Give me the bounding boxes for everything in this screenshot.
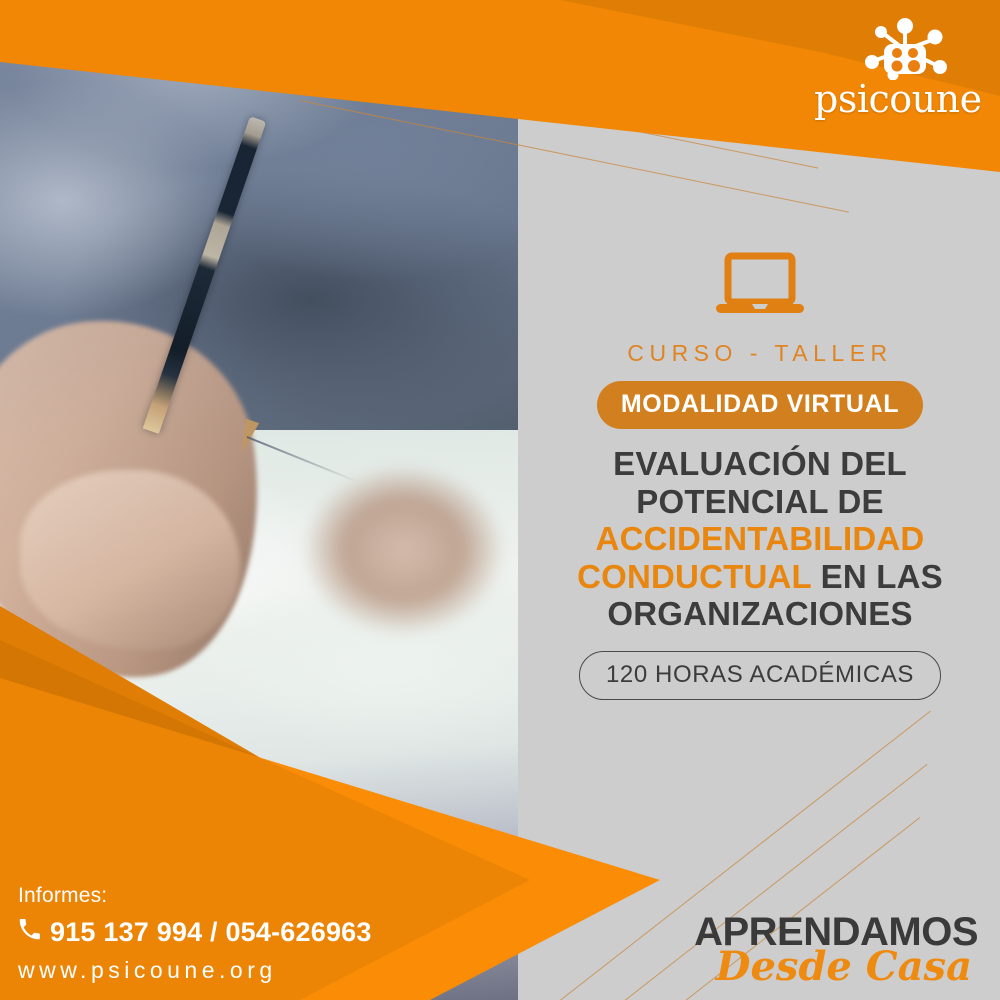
contact-website[interactable]: www.psicoune.org — [18, 957, 488, 984]
title-highlight-accidentabilidad: ACCIDENTABILIDAD — [596, 520, 925, 557]
title-line-5: ORGANIZACIONES — [560, 595, 960, 633]
title-highlight-conductual: CONDUCTUAL — [577, 558, 811, 595]
contact-block: Informes: 915 137 994 / 054-626963 www.p… — [18, 884, 488, 984]
title-line-1: EVALUACIÓN DEL — [560, 445, 960, 483]
phone-icon — [18, 917, 41, 948]
course-kicker: CURSO - TALLER — [560, 340, 960, 367]
course-title: EVALUACIÓN DEL POTENCIAL DE ACCIDENTABIL… — [560, 445, 960, 633]
laptop-icon — [560, 250, 960, 322]
title-line-4-rest: EN LAS — [811, 558, 943, 595]
title-line-2: POTENCIAL DE — [560, 483, 960, 521]
logo-wordmark: psicoune — [814, 80, 974, 118]
molecule-network-icon — [862, 18, 948, 80]
contact-phone-row[interactable]: 915 137 994 / 054-626963 — [18, 917, 488, 948]
course-info-block: CURSO - TALLER MODALIDAD VIRTUAL EVALUAC… — [560, 250, 960, 700]
brand-logo: psicoune — [814, 18, 974, 118]
campaign-slogan: APRENDAMOS Desde Casa — [694, 913, 978, 986]
campaign-line-2: Desde Casa — [694, 948, 972, 986]
contact-label: Informes: — [18, 884, 488, 908]
hours-badge: 120 HORAS ACADÉMICAS — [579, 651, 941, 700]
title-line-4: CONDUCTUAL EN LAS — [560, 558, 960, 596]
title-line-3: ACCIDENTABILIDAD — [560, 520, 960, 558]
contact-phones: 915 137 994 / 054-626963 — [50, 917, 372, 948]
flyer-canvas: psicoune CURSO - TALLER MODALIDAD VIRTUA… — [0, 0, 1000, 1000]
modality-badge: MODALIDAD VIRTUAL — [597, 381, 923, 429]
